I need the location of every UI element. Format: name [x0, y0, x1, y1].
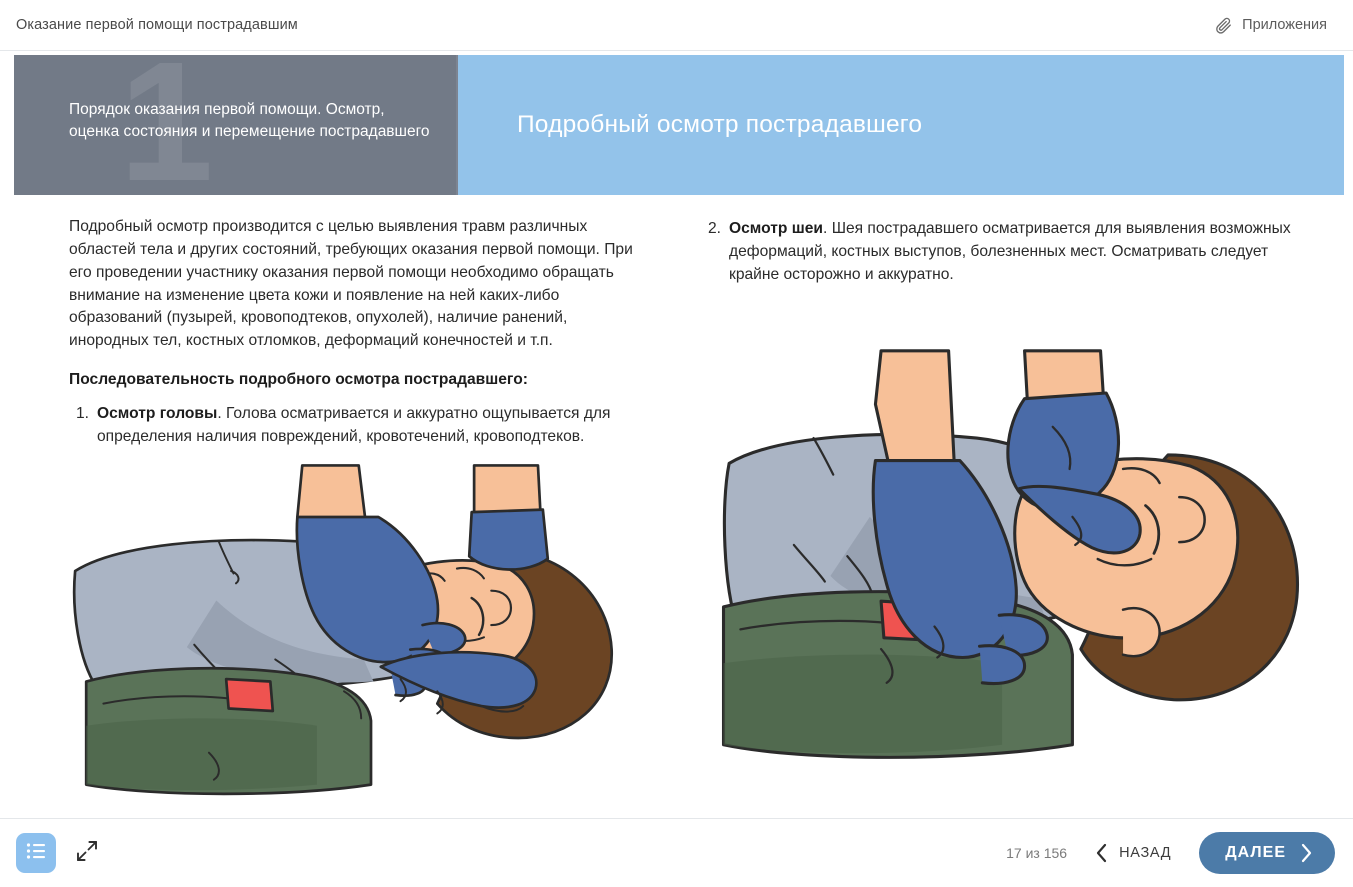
bulleted-list-icon: [26, 842, 47, 865]
slide-title: Подробный осмотр пострадавшего: [458, 111, 922, 139]
next-label: ДАЛЕЕ: [1225, 844, 1286, 862]
chevron-left-icon: [1095, 843, 1108, 863]
steps-list-left: 1.Осмотр головы. Голова осматривается и …: [14, 403, 646, 449]
head-examination-svg: [69, 463, 646, 807]
slide-canvas: 1 Порядок оказания первой помощи. Осмотр…: [0, 51, 1353, 818]
left-column: Подробный осмотр производится с целью вы…: [14, 216, 646, 811]
course-player: Оказание первой помощи пострадавшим Прил…: [0, 0, 1353, 887]
head-examination-illustration: [14, 463, 646, 807]
back-button[interactable]: НАЗАД: [1091, 837, 1175, 869]
neck-examination-svg: [701, 348, 1320, 784]
fullscreen-button[interactable]: [74, 840, 100, 866]
sequence-subheading: Последовательность подробного осмотра по…: [14, 369, 646, 392]
list-item: 1.Осмотр головы. Голова осматривается и …: [69, 403, 646, 449]
right-column: 2.Осмотр шеи. Шея пострадавшего осматрив…: [688, 216, 1320, 811]
step-number: 2.: [701, 218, 721, 241]
app-footer: 17 из 156 НАЗАД ДАЛЕЕ: [0, 818, 1353, 887]
module-title: Порядок оказания первой помощи. Осмотр, …: [69, 99, 439, 143]
footer-right-controls: 17 из 156 НАЗАД ДАЛЕЕ: [1006, 832, 1335, 874]
attachments-label: Приложения: [1242, 17, 1327, 33]
intro-paragraph: Подробный осмотр производится с целью вы…: [14, 216, 646, 353]
page-counter: 17 из 156: [1006, 845, 1067, 861]
footer-left-controls: [16, 833, 100, 873]
steps-list-right: 2.Осмотр шеи. Шея пострадавшего осматрив…: [688, 218, 1320, 286]
menu-button[interactable]: [16, 833, 56, 873]
paperclip-icon: [1214, 16, 1233, 35]
list-item: 2.Осмотр шеи. Шея пострадавшего осматрив…: [701, 218, 1320, 286]
neck-examination-illustration: [688, 348, 1320, 784]
expand-arrows-icon: [75, 839, 99, 868]
back-label: НАЗАД: [1119, 845, 1171, 861]
step-title: Осмотр головы: [97, 405, 217, 422]
step-number: 1.: [69, 403, 89, 426]
course-title: Оказание первой помощи пострадавшим: [16, 17, 298, 33]
chevron-right-icon: [1300, 843, 1313, 863]
slide-content: Подробный осмотр производится с целью вы…: [14, 216, 1344, 811]
slide-banner: 1 Порядок оказания первой помощи. Осмотр…: [14, 55, 1344, 195]
attachments-button[interactable]: Приложения: [1208, 12, 1333, 39]
banner-module-panel: 1 Порядок оказания первой помощи. Осмотр…: [14, 55, 456, 195]
next-button[interactable]: ДАЛЕЕ: [1199, 832, 1335, 874]
step-title: Осмотр шеи: [729, 220, 823, 237]
banner-title-panel: Подробный осмотр пострадавшего: [456, 55, 1344, 195]
app-header: Оказание первой помощи пострадавшим Прил…: [0, 0, 1353, 51]
